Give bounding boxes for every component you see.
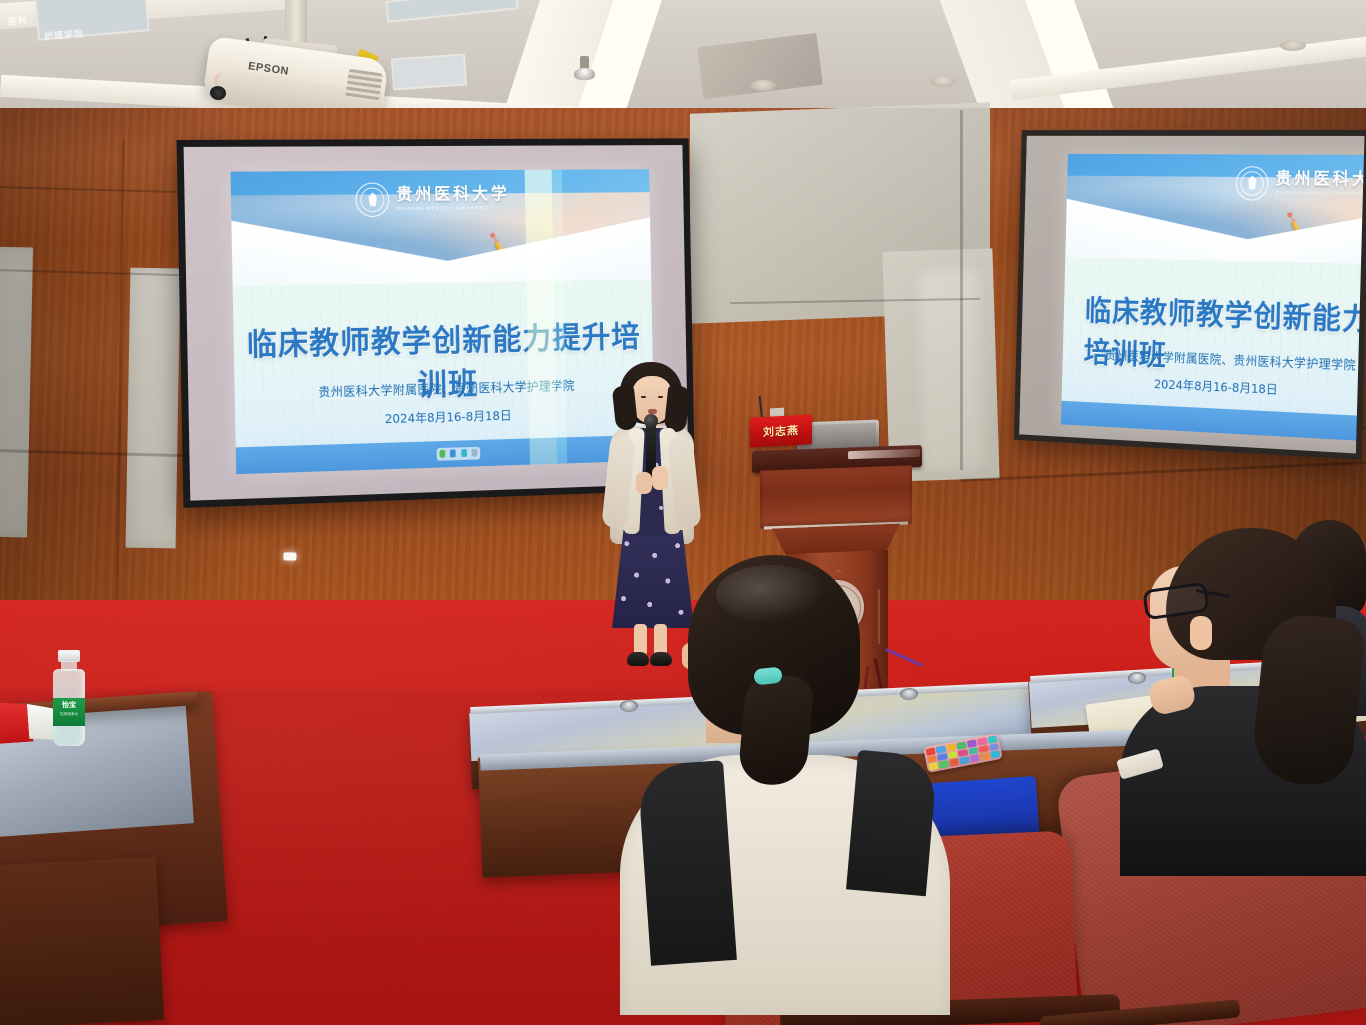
attendee-ponytail [1249, 611, 1366, 789]
bottle-brand-text: 怡宝 [55, 702, 83, 710]
hair-highlight [716, 565, 826, 623]
university-name-cn: 贵州医科大学 [396, 187, 510, 205]
university-logo: 贵州医科大学 GUIZHOU MEDICAL UNIVERSITY [356, 182, 510, 218]
bag-print-text: 护理学院 [44, 27, 85, 43]
presentation-slide: 贵州医科大学 GUIZHOU MEDICAL UNIVERSITY 临床教师教学… [231, 169, 655, 474]
university-crest-icon [1236, 166, 1270, 201]
bag-print-text: 医科 [8, 13, 29, 27]
downlight-icon [750, 80, 776, 91]
podium-nameplate: 刘志燕 [750, 414, 812, 447]
ceiling-panel [391, 53, 467, 90]
spotlight-icon [574, 68, 595, 80]
presenter-hair-side [664, 385, 691, 433]
nameplate-text: 刘志燕 [763, 422, 799, 440]
screen-surface: 贵州医科大学 GUIZHOU MEDICAL UNIVERSITY 临床教师教学… [1019, 136, 1364, 454]
presenter-eye [658, 396, 663, 398]
lecture-hall-photo: EPSON [0, 0, 1366, 1025]
university-name-en: GUIZHOU MEDICAL UNIVERSITY [396, 206, 510, 212]
eraser-icon[interactable] [472, 449, 478, 457]
presenter-hand [652, 466, 668, 490]
attendee-ear [1190, 616, 1212, 650]
presenter-eye [641, 396, 646, 398]
water-bottle: 怡宝 饮用纯净水 [48, 650, 90, 746]
highlighter-icon[interactable] [450, 450, 456, 458]
podium-upper-body [760, 465, 912, 528]
presentation-slide: 贵州医科大学 GUIZHOU MEDICAL UNIVERSITY 临床教师教学… [1061, 154, 1365, 445]
laser-pointer-icon[interactable] [461, 449, 467, 457]
projector-mount-pole [285, 0, 307, 46]
university-name-cn: 贵州医科大学 [1275, 171, 1364, 189]
university-name-en: GUIZHOU MEDICAL UNIVERSITY [1275, 191, 1364, 197]
university-logo: 贵州医科大学 GUIZHOU MEDICAL UNIVERSITY [1236, 166, 1365, 202]
presenter-shoe [650, 652, 672, 666]
downlight-icon [1280, 40, 1306, 51]
presenter-hair-side [612, 385, 638, 431]
projector-vent-icon [345, 69, 383, 101]
ceiling-panel [385, 0, 519, 23]
attendee-sleeve [637, 760, 737, 966]
downlight-icon [930, 76, 956, 87]
desk-lower-panel [0, 857, 164, 1025]
pen-icon[interactable] [439, 450, 445, 458]
presenter-hand [636, 472, 652, 494]
university-crest-icon [356, 182, 390, 217]
presenter-shoe [627, 652, 649, 666]
microphone-head-icon [644, 414, 658, 428]
secondary-projection-screen[interactable]: 贵州医科大学 GUIZHOU MEDICAL UNIVERSITY 临床教师教学… [1014, 130, 1366, 460]
attendee-sleeve [846, 750, 938, 896]
bottle-sub-text: 饮用纯净水 [55, 712, 83, 717]
presenter-skirt [612, 530, 694, 628]
slide-toolbar[interactable] [437, 446, 481, 460]
